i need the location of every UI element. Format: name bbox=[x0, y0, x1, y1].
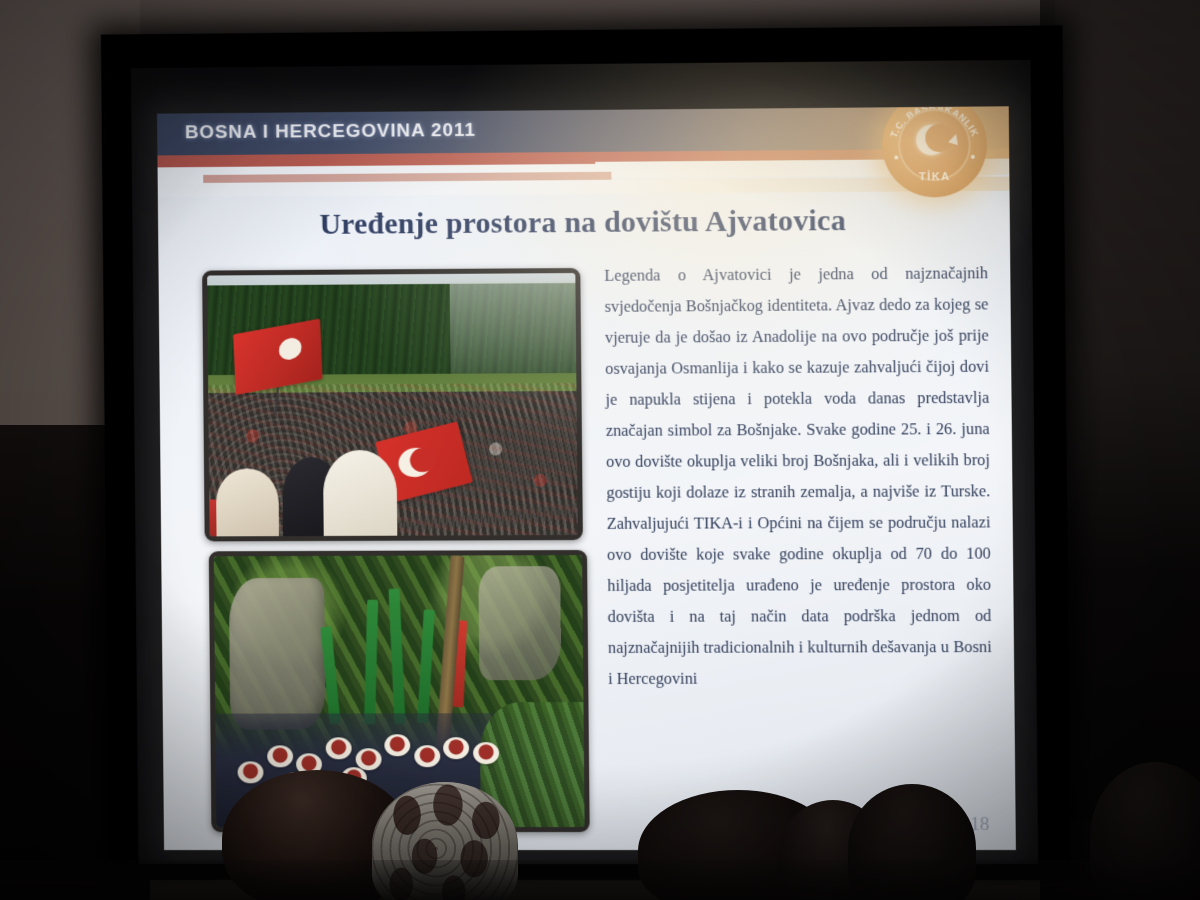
tika-logo-label: TİKA bbox=[882, 171, 987, 184]
turban-icon-4 bbox=[326, 737, 352, 759]
flag-crescent-icon bbox=[395, 444, 435, 480]
slide-title: Uređenje prostora na dovištu Ajvatovica bbox=[158, 203, 1010, 243]
slide-photo-top bbox=[202, 268, 583, 541]
photo-mist bbox=[450, 281, 576, 376]
wall-right-dark-panel bbox=[1055, 0, 1200, 820]
crescent-icon bbox=[916, 125, 947, 155]
photo-top-content bbox=[207, 273, 578, 536]
logo-dot-right bbox=[971, 155, 975, 159]
turban-icon-5 bbox=[355, 748, 381, 770]
logo-dot-left bbox=[894, 155, 898, 159]
tika-logo: T.C. BAŞBAKANLIK TİKA bbox=[882, 106, 988, 197]
projection-screen-surface: BOSNA I HERCEGOVINA 2011 T.C. BAŞBAKANLI… bbox=[131, 60, 1038, 864]
projection-screen-frame: BOSNA I HERCEGOVINA 2011 T.C. BAŞBAKANLI… bbox=[101, 25, 1071, 880]
photo-rock-face-right bbox=[479, 566, 561, 680]
photo-rock-face-left bbox=[229, 578, 326, 730]
photo-foreground-head-3 bbox=[323, 449, 397, 536]
presentation-slide: BOSNA I HERCEGOVINA 2011 T.C. BAŞBAKANLI… bbox=[157, 106, 1016, 850]
slide-banner-title: BOSNA I HERCEGOVINA 2011 bbox=[185, 120, 476, 144]
turban-icon-7 bbox=[414, 745, 440, 767]
photo-foreground-head-1 bbox=[216, 468, 279, 536]
room-scene: BOSNA I HERCEGOVINA 2011 T.C. BAŞBAKANLI… bbox=[0, 0, 1200, 900]
foreground-shadow bbox=[0, 860, 1200, 900]
turban-icon-2 bbox=[267, 746, 293, 768]
slide-body-text: Legenda o Ajvatovici je jedna od najznač… bbox=[604, 257, 992, 694]
